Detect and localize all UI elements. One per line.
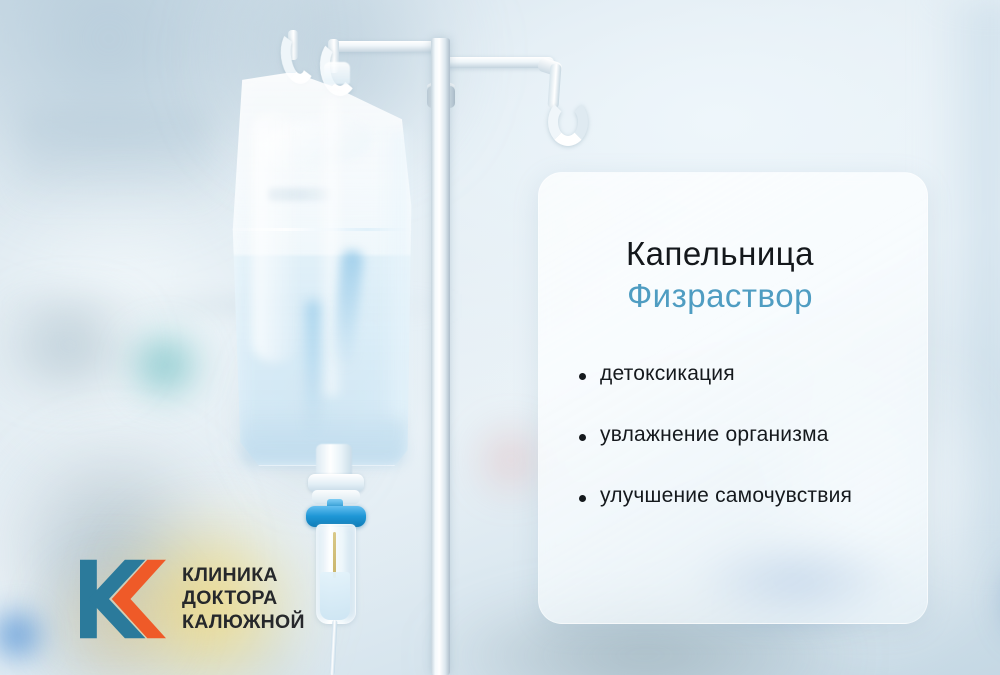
benefit-item-1: детоксикация <box>579 362 901 386</box>
logo-line-2: ДОКТОРА <box>182 587 305 610</box>
logo-line-1: КЛИНИКА <box>182 564 305 587</box>
logo-k-chevron-icon <box>78 556 168 642</box>
clinic-logo[interactable]: КЛИНИКА ДОКТОРА КАЛЮЖНОЙ <box>78 556 305 642</box>
card-subtitle: Физраствор <box>539 275 901 318</box>
logo-wordmark: КЛИНИКА ДОКТОРА КАЛЮЖНОЙ <box>182 564 305 634</box>
iv-bag-highlight-right <box>378 130 408 420</box>
iv-hook-right <box>548 98 588 146</box>
promo-banner: Капельница Физраствор детоксикация увлаж… <box>0 0 1000 675</box>
iv-bag-port <box>316 444 352 478</box>
card-title: Капельница <box>539 235 901 273</box>
iv-pole-shaft <box>431 38 450 675</box>
iv-bag-highlight-left <box>252 112 300 362</box>
benefit-item-2: увлажнение организма <box>579 423 901 447</box>
iv-drip-chamber-fluid <box>320 572 350 620</box>
iv-bag-hanger-tab <box>324 62 350 84</box>
logo-line-3: КАЛЮЖНОЙ <box>182 611 305 634</box>
info-card: Капельница Физраствор детоксикация увлаж… <box>538 172 928 624</box>
benefit-item-3: улучшение самочувствия <box>579 484 901 508</box>
benefits-list: детоксикация увлажнение организма улучше… <box>539 362 901 508</box>
